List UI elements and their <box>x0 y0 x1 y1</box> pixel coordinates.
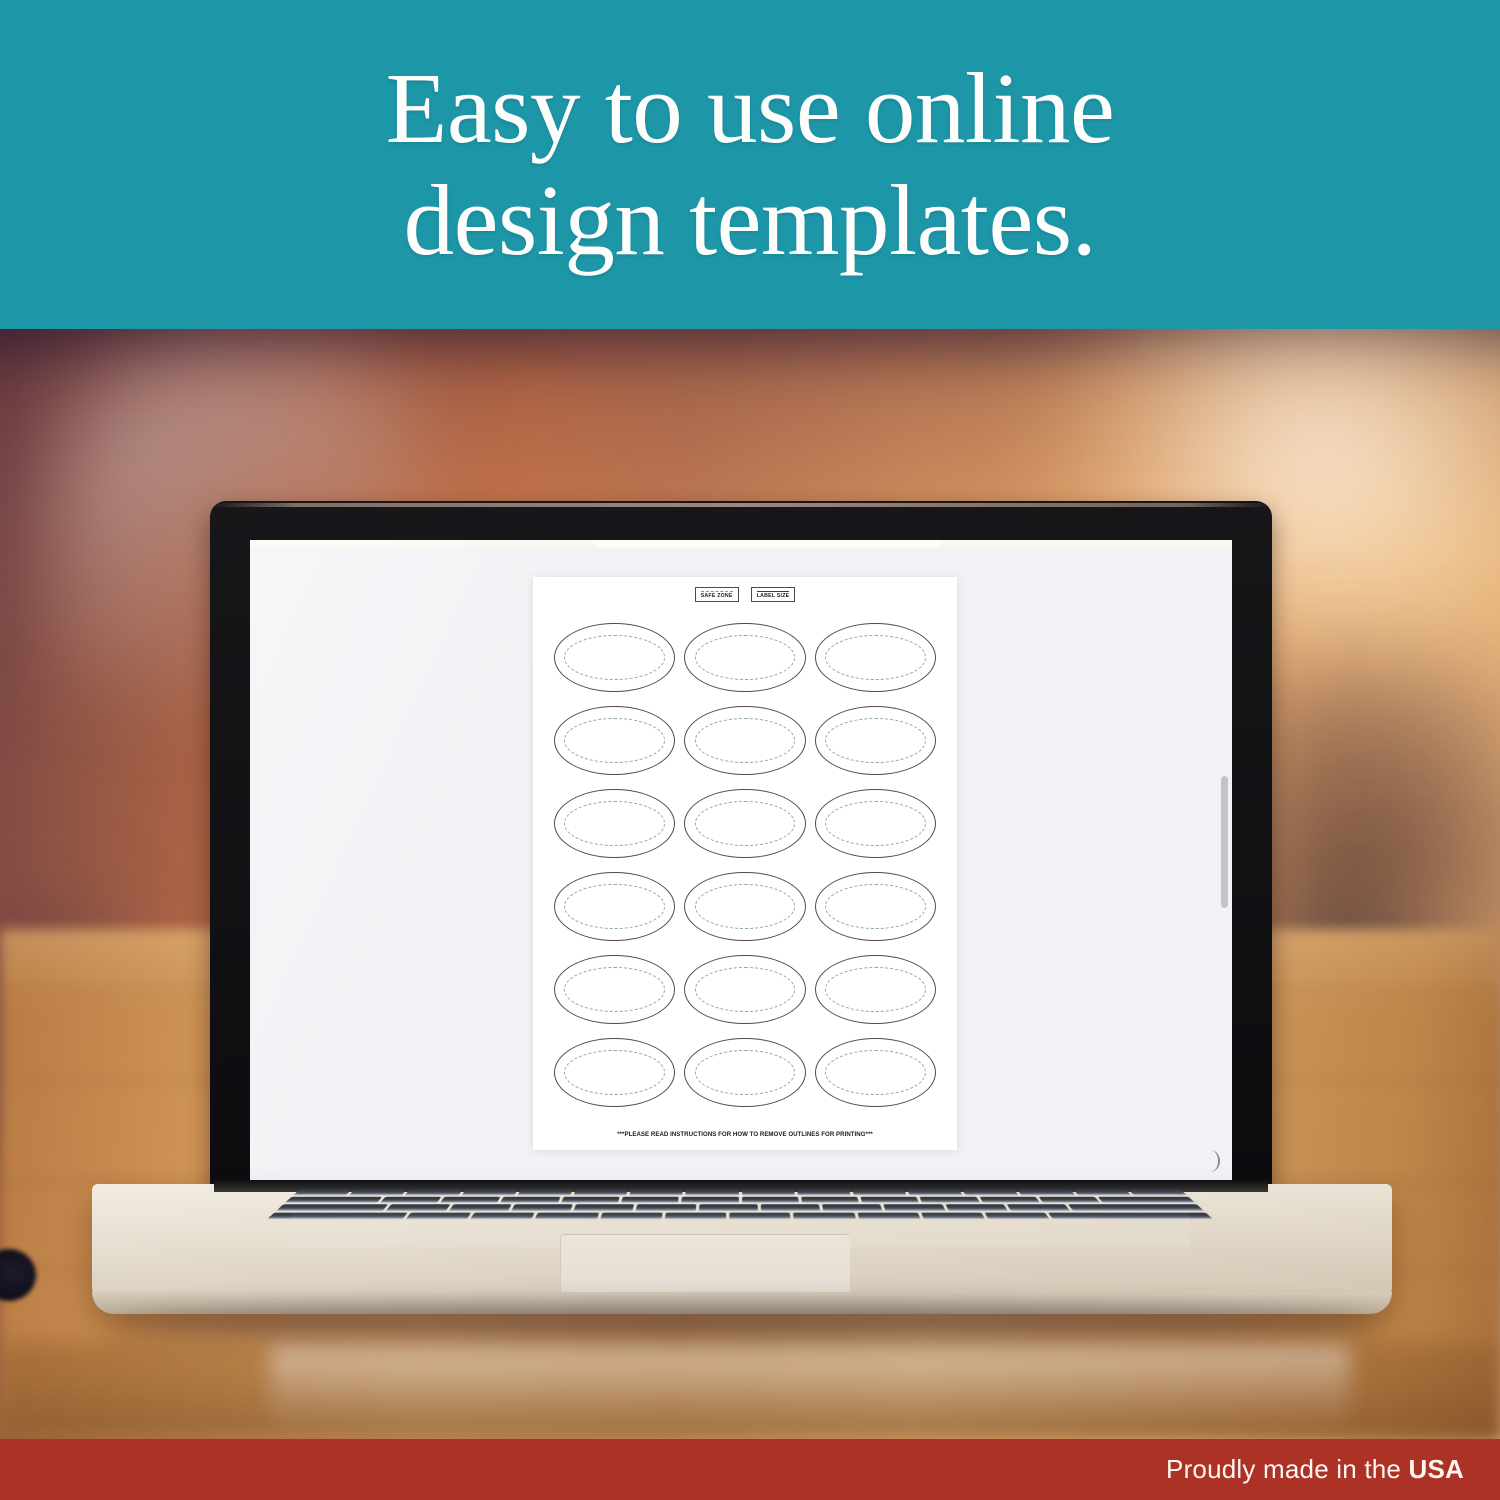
keyboard-key[interactable] <box>1068 1204 1204 1211</box>
page-title: Easy to use online design templates. <box>245 53 1255 275</box>
keyboard-key[interactable] <box>517 1189 573 1195</box>
keyboard-key[interactable] <box>681 1196 738 1203</box>
keyboard-key[interactable] <box>379 1196 441 1203</box>
label-size-outline <box>684 706 806 776</box>
label-size-outline <box>815 789 937 859</box>
keyboard-key[interactable] <box>685 1189 738 1195</box>
keyboard-key[interactable] <box>884 1204 946 1211</box>
keyboard-key[interactable] <box>573 1204 634 1211</box>
oval-label-cell[interactable] <box>682 783 809 864</box>
oval-label-cell[interactable] <box>682 949 809 1030</box>
headline-line-2: design templates. <box>245 165 1255 276</box>
keyboard-key[interactable] <box>1048 1212 1213 1219</box>
oval-label-cell[interactable] <box>682 1032 809 1113</box>
vertical-scrollbar[interactable] <box>1221 776 1228 908</box>
oval-label-cell[interactable] <box>812 617 939 698</box>
oval-label-cell[interactable] <box>551 700 678 781</box>
keyboard-key[interactable] <box>729 1212 791 1219</box>
keyboard-key[interactable] <box>742 1189 795 1195</box>
keyboard-key[interactable] <box>461 1189 518 1195</box>
safe-zone-outline <box>825 884 925 929</box>
laptop-keyboard[interactable] <box>267 1189 1214 1219</box>
keyboard-key[interactable] <box>921 1212 986 1219</box>
label-size-outline <box>684 955 806 1025</box>
oval-label-cell[interactable] <box>551 617 678 698</box>
footer-banner: Proudly made in the USA <box>0 1439 1500 1500</box>
safe-zone-outline <box>564 1050 664 1095</box>
keyboard-key[interactable] <box>742 1196 799 1203</box>
keyboard-row <box>285 1196 1196 1203</box>
oval-label-cell[interactable] <box>812 949 939 1030</box>
label-size-outline <box>554 706 676 776</box>
safe-zone-outline <box>695 801 795 846</box>
oval-label-cell[interactable] <box>812 783 939 864</box>
keyboard-key[interactable] <box>1039 1196 1101 1203</box>
label-size-outline <box>815 872 937 942</box>
footer-text-prefix: Proudly made in the <box>1166 1454 1408 1484</box>
sheet-legend: SAFE ZONE LABEL SIZE <box>533 587 957 602</box>
label-size-solid-rule-icon <box>757 591 790 592</box>
header-banner: Easy to use online design templates. <box>0 0 1500 329</box>
oval-label-cell[interactable] <box>551 1032 678 1113</box>
legend-label-safe-zone: SAFE ZONE <box>701 594 733 599</box>
label-sheet-document[interactable]: SAFE ZONE LABEL SIZE ***PLEASE READ INST… <box>533 577 957 1150</box>
oval-label-cell[interactable] <box>812 700 939 781</box>
keyboard-key[interactable] <box>405 1212 471 1219</box>
keyboard-key[interactable] <box>801 1196 859 1203</box>
keyboard-key[interactable] <box>405 1189 462 1195</box>
safe-zone-outline <box>695 884 795 929</box>
keyboard-key[interactable] <box>600 1212 663 1219</box>
safe-zone-outline <box>564 884 664 929</box>
legend-item-safe-zone: SAFE ZONE <box>695 587 739 602</box>
keyboard-key[interactable] <box>621 1196 679 1203</box>
keyboard-key[interactable] <box>573 1189 628 1195</box>
keyboard-key[interactable] <box>560 1196 619 1203</box>
sheet-footnote: ***PLEASE READ INSTRUCTIONS FOR HOW TO R… <box>533 1131 957 1138</box>
safe-zone-outline <box>825 718 925 763</box>
label-size-outline <box>815 955 937 1025</box>
label-size-outline <box>554 623 676 693</box>
keyboard-key[interactable] <box>276 1204 389 1211</box>
keyboard-key[interactable] <box>535 1212 599 1219</box>
keyboard-key[interactable] <box>857 1212 921 1219</box>
keyboard-key[interactable] <box>448 1204 511 1211</box>
safe-zone-outline <box>564 718 664 763</box>
label-size-outline <box>684 1038 806 1108</box>
label-size-outline <box>554 1038 676 1108</box>
oval-label-grid <box>551 617 939 1113</box>
safe-zone-outline <box>564 967 664 1012</box>
keyboard-row <box>276 1204 1204 1211</box>
oval-label-cell[interactable] <box>812 866 939 947</box>
label-size-outline <box>815 1038 937 1108</box>
laptop-lid-highlight <box>212 503 1270 507</box>
keyboard-key[interactable] <box>349 1189 407 1195</box>
laptop-drop-shadow <box>120 1307 1370 1339</box>
keyboard-key[interactable] <box>761 1204 821 1211</box>
laptop-screen[interactable]: SAFE ZONE LABEL SIZE ***PLEASE READ INST… <box>250 540 1232 1184</box>
safe-zone-outline <box>825 1050 925 1095</box>
label-size-outline <box>684 789 806 859</box>
keyboard-key[interactable] <box>860 1196 919 1203</box>
headline-line-1: Easy to use online <box>245 53 1255 164</box>
safe-zone-outline <box>564 635 664 680</box>
label-size-outline <box>815 706 937 776</box>
keyboard-key[interactable] <box>440 1196 501 1203</box>
oval-label-cell[interactable] <box>812 1032 939 1113</box>
keyboard-key[interactable] <box>1007 1204 1071 1211</box>
keyboard-key[interactable] <box>852 1189 907 1195</box>
keyboard-key[interactable] <box>797 1189 851 1195</box>
keyboard-key[interactable] <box>822 1204 883 1211</box>
label-size-outline <box>684 872 806 942</box>
safe-zone-outline <box>564 801 664 846</box>
oval-label-cell[interactable] <box>682 866 809 947</box>
laptop-photo-scene: SAFE ZONE LABEL SIZE ***PLEASE READ INST… <box>0 329 1500 1439</box>
safe-zone-outline <box>825 801 925 846</box>
keyboard-key[interactable] <box>500 1196 560 1203</box>
keyboard-key[interactable] <box>793 1212 855 1219</box>
label-size-outline <box>554 955 676 1025</box>
keyboard-key[interactable] <box>267 1212 408 1219</box>
made-in-usa-text: Proudly made in the USA <box>1166 1454 1464 1485</box>
keyboard-key[interactable] <box>293 1189 352 1195</box>
keyboard-row <box>267 1212 1214 1219</box>
safe-zone-outline <box>695 718 795 763</box>
keyboard-key[interactable] <box>979 1196 1040 1203</box>
oval-label-cell[interactable] <box>682 700 809 781</box>
oval-label-cell[interactable] <box>551 949 678 1030</box>
keyboard-key[interactable] <box>386 1204 450 1211</box>
keyboard-key[interactable] <box>698 1204 757 1211</box>
oval-label-cell[interactable] <box>551 783 678 864</box>
safe-zone-outline <box>695 635 795 680</box>
keyboard-key[interactable] <box>470 1212 535 1219</box>
label-size-outline <box>554 872 676 942</box>
keyboard-key[interactable] <box>907 1189 963 1195</box>
screen-corner-mark-icon <box>1204 1150 1220 1172</box>
label-size-outline <box>684 623 806 693</box>
browser-tab-strip <box>595 540 940 547</box>
keyboard-key[interactable] <box>1017 1189 1074 1195</box>
laptop: SAFE ZONE LABEL SIZE ***PLEASE READ INST… <box>0 329 1500 1439</box>
keyboard-key[interactable] <box>945 1204 1008 1211</box>
safe-zone-outline <box>695 1050 795 1095</box>
label-size-outline <box>815 623 937 693</box>
keyboard-key[interactable] <box>636 1204 696 1211</box>
safe-zone-outline <box>695 967 795 1012</box>
keyboard-key[interactable] <box>962 1189 1019 1195</box>
keyboard-key[interactable] <box>665 1212 727 1219</box>
keyboard-key[interactable] <box>984 1212 1050 1219</box>
keyboard-key[interactable] <box>629 1189 683 1195</box>
oval-label-cell[interactable] <box>551 866 678 947</box>
keyboard-key[interactable] <box>285 1196 382 1203</box>
footer-text-usa: USA <box>1409 1454 1465 1484</box>
browser-chrome-strip <box>250 540 1232 550</box>
keyboard-key[interactable] <box>511 1204 573 1211</box>
keyboard-key[interactable] <box>920 1196 980 1203</box>
legend-item-label-size: LABEL SIZE <box>751 587 796 602</box>
keyboard-row <box>293 1189 1187 1195</box>
oval-label-cell[interactable] <box>682 617 809 698</box>
safe-zone-outline <box>825 967 925 1012</box>
legend-label-label-size: LABEL SIZE <box>757 594 790 599</box>
keyboard-key[interactable] <box>1073 1189 1131 1195</box>
label-size-outline <box>554 789 676 859</box>
safe-zone-outline <box>825 635 925 680</box>
safe-zone-dashed-rule-icon <box>701 591 733 592</box>
